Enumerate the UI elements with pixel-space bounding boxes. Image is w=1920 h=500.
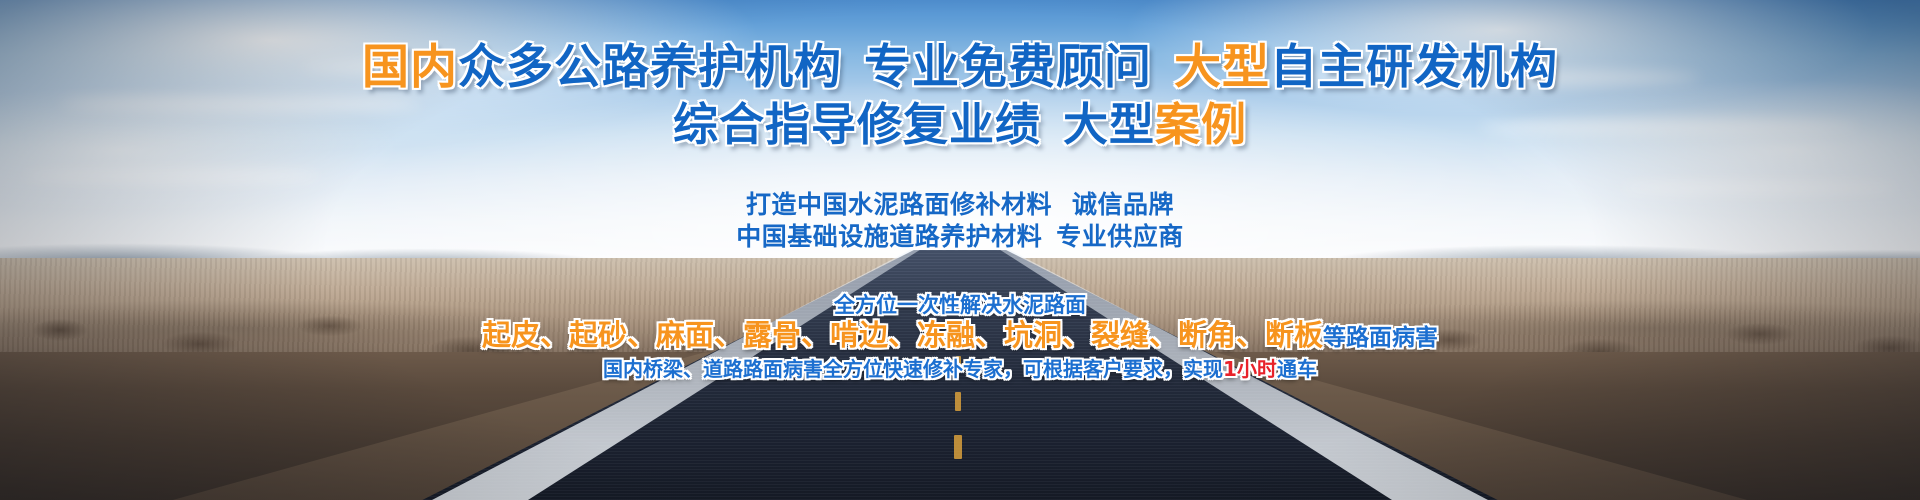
subheadline-line-2: 中国基础设施道路养护材料专业供应商 xyxy=(0,222,1920,252)
subheadline-1b: 诚信品牌 xyxy=(1072,190,1174,219)
center-dash xyxy=(954,435,962,459)
headline-line-1: 国内众多公路养护机构专业免费顾问大型自主研发机构 xyxy=(0,42,1920,94)
headline-seg-anli: 案例 xyxy=(1155,98,1247,151)
bottom-line-1: 全方位一次性解决水泥路面 xyxy=(0,293,1920,318)
bottom-line-2: 起皮、起砂、麻面、露骨、啃边、冻融、坑洞、裂缝、断角、断板等路面病害 xyxy=(0,318,1920,355)
subheadline-2a: 中国基础设施道路养护材料 xyxy=(736,222,1042,251)
bottom-solution-text: 全方位一次性解决水泥路面 xyxy=(834,293,1086,317)
headline-seg-zhonghe: 综合指导修复业绩 xyxy=(673,98,1041,151)
subheadline-line-1: 打造中国水泥路面修补材料诚信品牌 xyxy=(0,190,1920,220)
bottom-hour-highlight: 1小时 xyxy=(1223,357,1277,381)
headline-seg-daxing: 大型 xyxy=(1174,40,1270,95)
headline-seg-zhuanye: 专业 xyxy=(864,40,960,95)
center-dash xyxy=(955,392,961,411)
headline-seg-guonei: 国内 xyxy=(362,40,458,95)
bottom-expert-text: 国内桥梁、道路路面病害全方位快速修补专家，可根据客户要求，实现 xyxy=(603,357,1223,381)
bottom-traffic-text: 通车 xyxy=(1277,357,1317,381)
subheadline-2b: 专业供应商 xyxy=(1056,222,1184,251)
bottom-disease-list: 起皮、起砂、麻面、露骨、啃边、冻融、坑洞、裂缝、断角、断板 xyxy=(482,318,1323,352)
subheadline-1a: 打造中国水泥路面修补材料 xyxy=(746,190,1052,219)
bottom-disease-suffix: 等路面病害 xyxy=(1323,325,1438,351)
headline-seg-mianfeiguwen: 免费顾问 xyxy=(960,40,1152,95)
headline-seg-zizhuyanfa: 自主研发机构 xyxy=(1270,40,1558,95)
cloud-streak xyxy=(20,170,320,182)
headline-seg-daxing-2: 大型 xyxy=(1063,98,1155,151)
headline-line-2: 综合指导修复业绩大型案例 xyxy=(0,100,1920,150)
headline-seg-zhongduo: 众多公路养护机构 xyxy=(458,40,842,95)
bottom-line-3: 国内桥梁、道路路面病害全方位快速修补专家，可根据客户要求，实现1小时通车 xyxy=(0,357,1920,381)
hero-banner: 国内众多公路养护机构专业免费顾问大型自主研发机构 综合指导修复业绩大型案例 打造… xyxy=(0,0,1920,500)
